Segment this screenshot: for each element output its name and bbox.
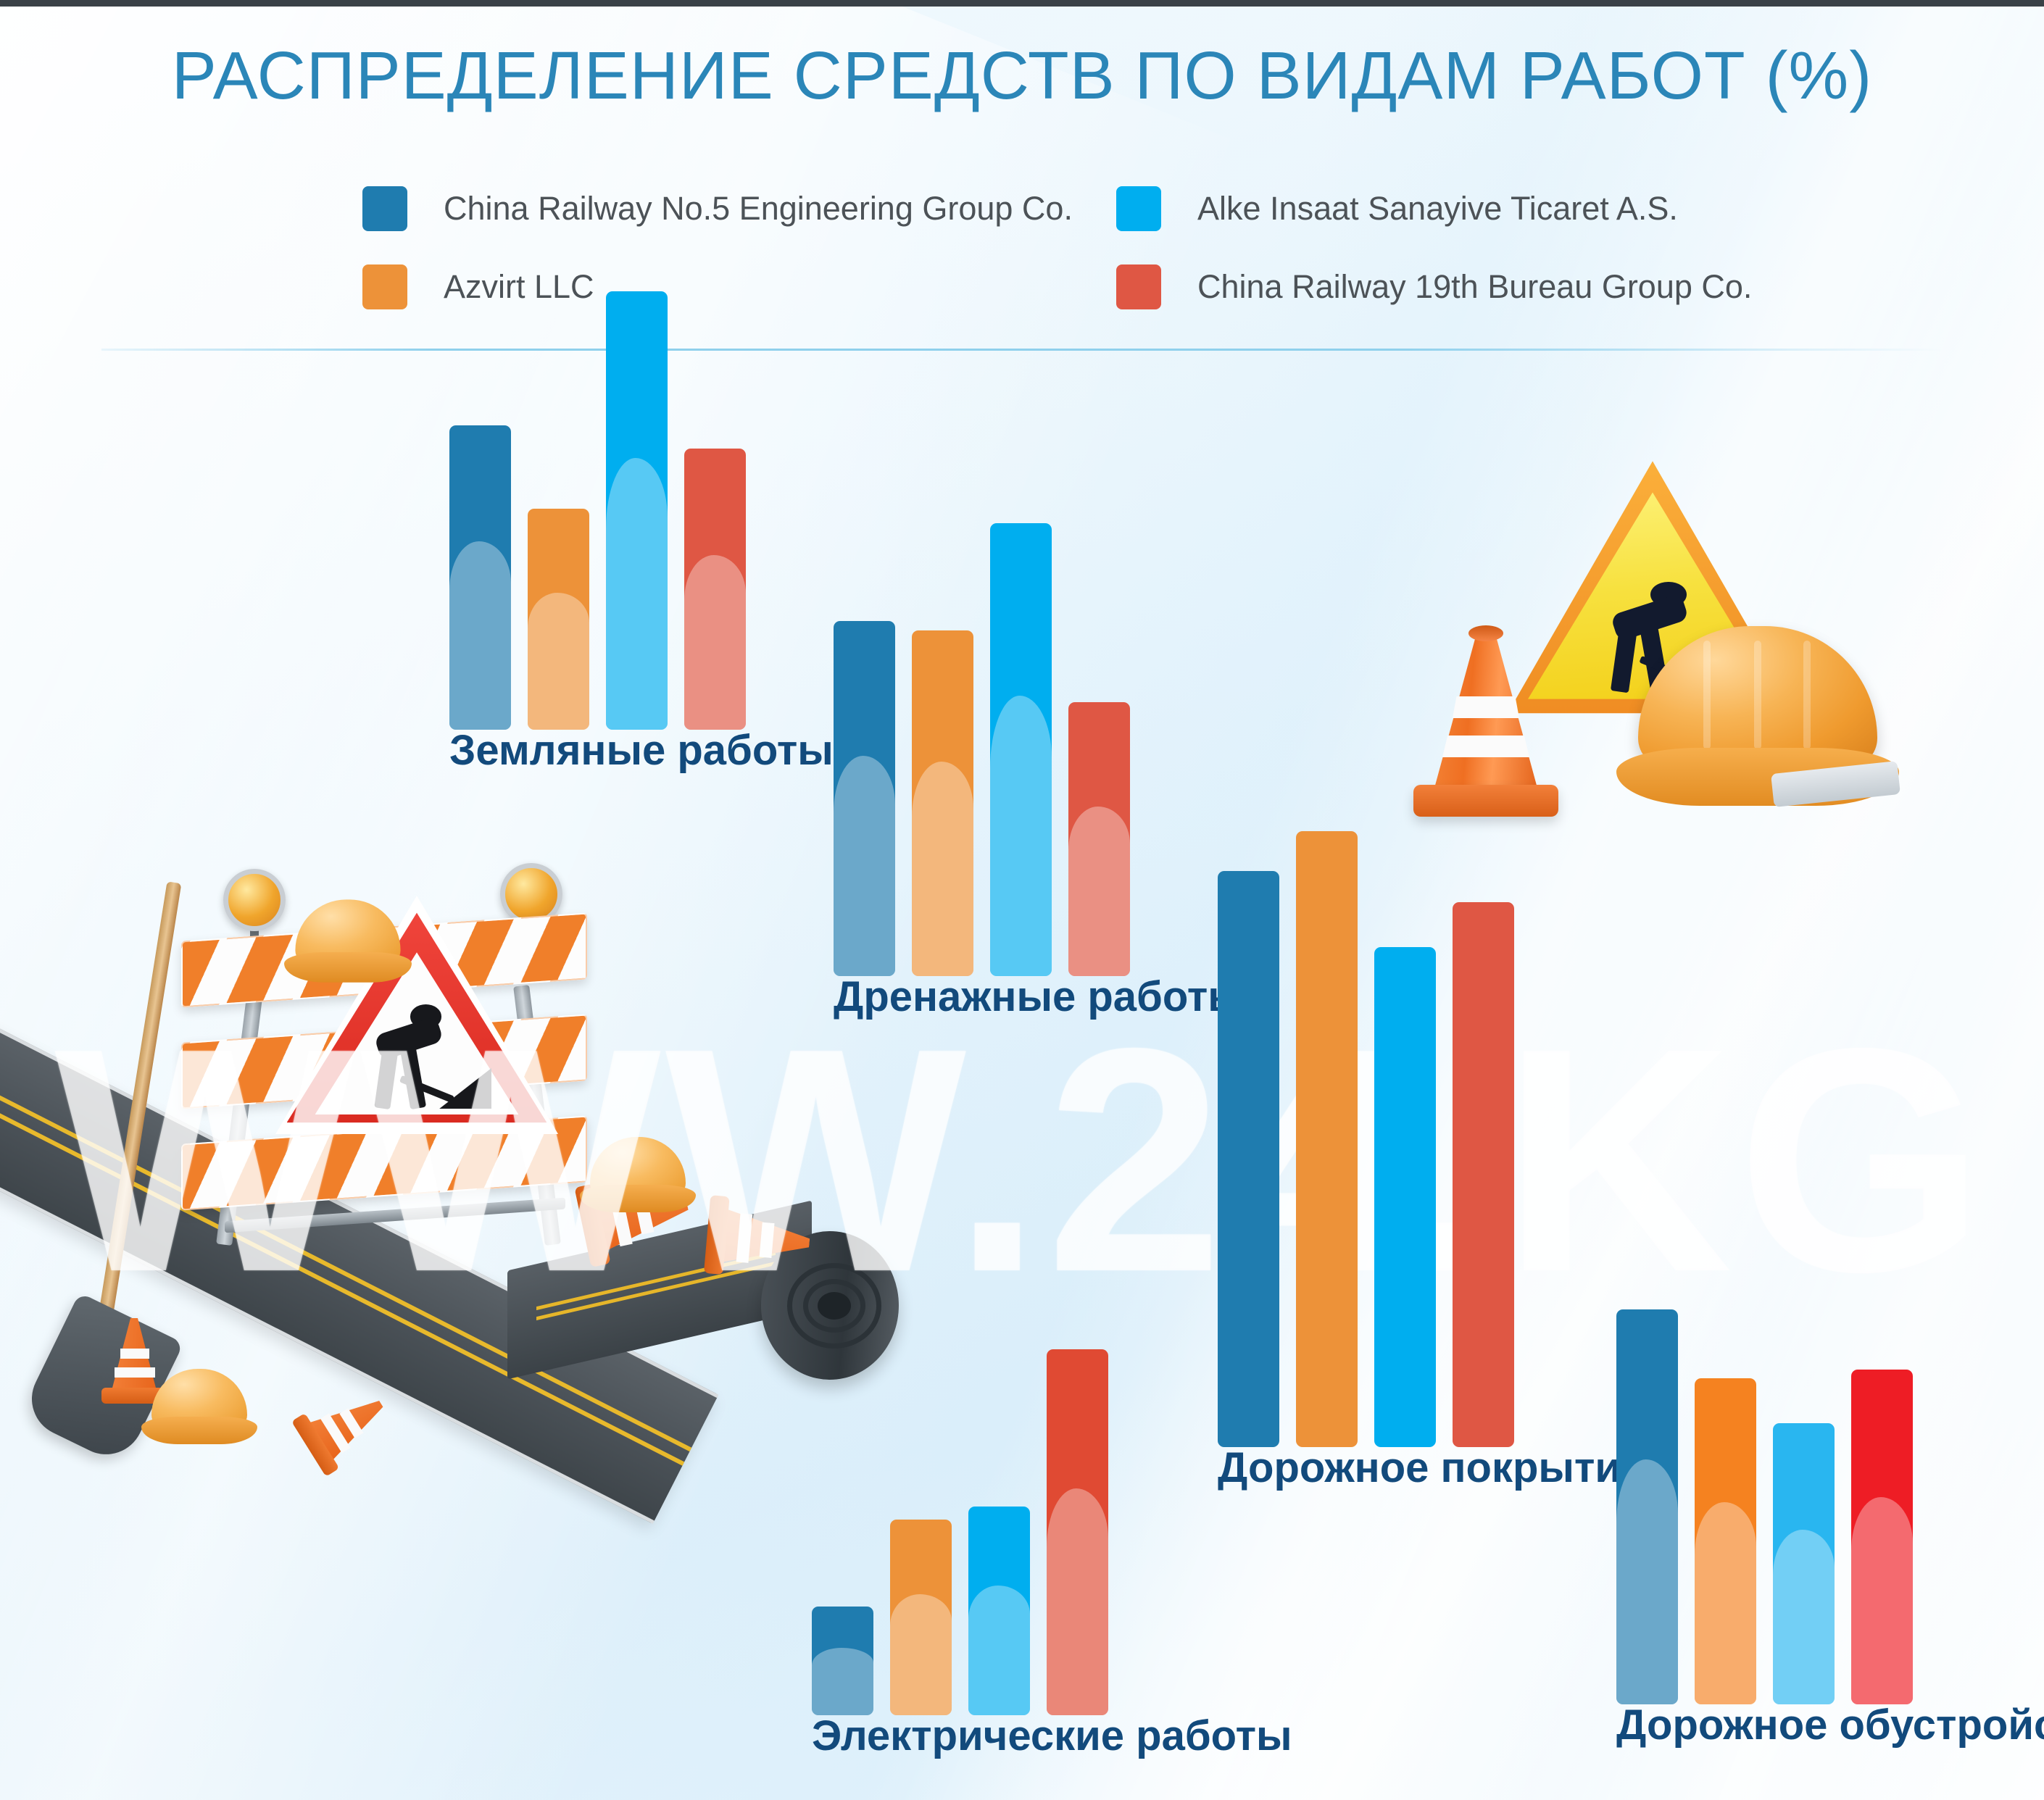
bar-0-0[interactable]: 7,1 [449, 425, 511, 730]
bar-row: 14,0311,519,711,85 [1616, 1242, 1913, 1704]
legend-item-2[interactable]: Alke Insaat Sanayive Ticaret A.S. [1116, 186, 1678, 231]
bar-item[interactable]: 3,73 [812, 1607, 873, 1715]
chart-group-1: 11,9411,615,58,92Дренажные работы [834, 543, 1283, 1021]
traffic-cone-icon [702, 1195, 813, 1282]
bar-2-2[interactable]: 43,04 [1374, 947, 1436, 1447]
chart-group-label-2: Дорожное покрытие [1218, 1443, 1644, 1492]
hard-hat-icon [284, 899, 412, 988]
bar-1-3[interactable]: 8,92 [1068, 702, 1130, 976]
bar-item[interactable]: 6,53 [684, 449, 746, 730]
bar-4-1[interactable]: 11,51 [1695, 1378, 1756, 1704]
bar-2-1[interactable]: 52,96 [1296, 831, 1358, 1447]
warning-lamp-icon [223, 869, 286, 931]
bar-item[interactable]: 7,12 [968, 1507, 1030, 1715]
hard-hat-icon [580, 1137, 696, 1218]
bar-4-2[interactable]: 9,7 [1773, 1423, 1835, 1704]
bar-item[interactable]: 15,5 [990, 523, 1052, 976]
yellow-roadworks-sign-icon [1508, 456, 1798, 724]
chart-group-4: 14,0311,519,711,85Дорожное обустройство [1616, 1242, 2044, 1749]
legend-swatch-0 [362, 186, 407, 231]
bar-row: 49,4652,9643,0446,87 [1218, 796, 1514, 1447]
legend-item-0[interactable]: China Railway No.5 Engineering Group Co. [362, 186, 1073, 231]
chart-group-3: 3,736,777,1212,56Электрические работы [812, 1304, 1261, 1760]
page-title: РАСПРЕДЕЛЕНИЕ СРЕДСТВ ПО ВИДАМ РАБОТ (%) [0, 37, 2044, 114]
chart-group-0: 7,15,1110,216,53Земляные работы [449, 383, 855, 775]
bar-item[interactable]: 5,11 [528, 509, 589, 730]
bar-row: 3,736,777,1212,56 [812, 1304, 1108, 1715]
bar-4-0[interactable]: 14,03 [1616, 1309, 1678, 1704]
bar-item[interactable]: 12,56 [1047, 1349, 1108, 1715]
infographic-canvas: WWW.24.KG РАСПРЕДЕЛЕНИЕ СРЕДСТВ ПО ВИДАМ… [0, 0, 2044, 1800]
legend-swatch-1 [362, 264, 407, 309]
warning-lamp-icon [500, 863, 562, 925]
bar-3-3[interactable]: 12,56 [1047, 1349, 1108, 1715]
legend-item-3[interactable]: China Railway 19th Bureau Group Co. [1116, 264, 1752, 309]
chart-group-label-3: Электрические работы [812, 1712, 1292, 1760]
bar-row: 7,15,1110,216,53 [449, 383, 746, 730]
legend-divider [101, 349, 1943, 351]
legend-swatch-2 [1116, 186, 1161, 231]
bar-4-3[interactable]: 11,85 [1851, 1370, 1913, 1704]
legend-item-1[interactable]: Azvirt LLC [362, 264, 594, 309]
bar-item[interactable]: 52,96 [1296, 831, 1358, 1447]
bar-3-1[interactable]: 6,77 [890, 1520, 952, 1715]
bar-item[interactable]: 11,6 [912, 630, 973, 976]
bar-item[interactable]: 8,92 [1068, 702, 1130, 976]
legend-label-0: China Railway No.5 Engineering Group Co. [444, 190, 1073, 228]
bar-0-2[interactable]: 10,21 [606, 291, 668, 730]
bar-item[interactable]: 11,94 [834, 621, 895, 976]
bar-item[interactable]: 10,21 [606, 291, 668, 730]
bar-item[interactable]: 6,77 [890, 1520, 952, 1715]
bar-item[interactable]: 11,51 [1695, 1378, 1756, 1704]
bar-0-3[interactable]: 6,53 [684, 449, 746, 730]
hard-hat-large-icon [1616, 626, 1899, 814]
chart-group-label-1: Дренажные работы [834, 972, 1244, 1021]
traffic-cone-icon [290, 1376, 398, 1478]
bar-item[interactable]: 43,04 [1374, 947, 1436, 1447]
traffic-cone-large-icon [1413, 630, 1558, 818]
bar-2-3[interactable]: 46,87 [1453, 902, 1514, 1447]
bar-item[interactable]: 9,7 [1773, 1423, 1835, 1704]
chart-group-2: 49,4652,9643,0446,87Дорожное покрытие [1218, 796, 1667, 1492]
legend-label-1: Azvirt LLC [444, 268, 594, 306]
bar-1-2[interactable]: 15,5 [990, 523, 1052, 976]
bar-item[interactable]: 14,03 [1616, 1309, 1678, 1704]
legend-label-3: China Railway 19th Bureau Group Co. [1197, 268, 1752, 306]
bar-3-0[interactable]: 3,73 [812, 1607, 873, 1715]
legend-label-2: Alke Insaat Sanayive Ticaret A.S. [1197, 190, 1678, 228]
chart-group-label-0: Земляные работы [449, 726, 834, 775]
legend: China Railway No.5 Engineering Group Co.… [362, 186, 1798, 309]
bar-1-1[interactable]: 11,6 [912, 630, 973, 976]
hard-hat-icon [141, 1369, 257, 1450]
bar-item[interactable]: 7,1 [449, 425, 511, 730]
bar-row: 11,9411,615,58,92 [834, 543, 1130, 976]
legend-swatch-3 [1116, 264, 1161, 309]
bar-1-0[interactable]: 11,94 [834, 621, 895, 976]
bar-0-1[interactable]: 5,11 [528, 509, 589, 730]
bar-item[interactable]: 46,87 [1453, 902, 1514, 1447]
bar-item[interactable]: 11,85 [1851, 1370, 1913, 1704]
chart-group-label-4: Дорожное обустройство [1616, 1701, 2044, 1749]
bar-3-2[interactable]: 7,12 [968, 1507, 1030, 1715]
